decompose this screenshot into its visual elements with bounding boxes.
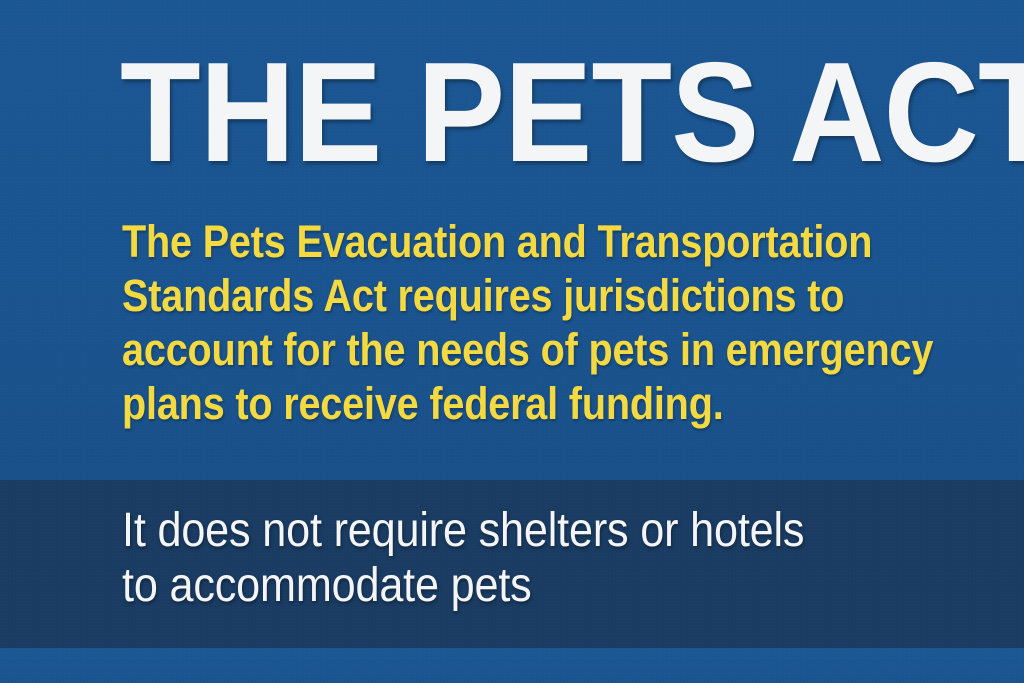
slide-content: THE PETS ACT The Pets Evacuation and Tra… (0, 0, 1024, 683)
infographic-slide: THE PETS ACT The Pets Evacuation and Tra… (0, 0, 1024, 683)
subtitle-line-4: plans to receive federal funding. (122, 377, 835, 431)
subtitle-line-3: account for the needs of pets in emergen… (122, 323, 835, 377)
slide-title: THE PETS ACT (120, 38, 1024, 188)
slide-note: It does not require shelters or hotels t… (122, 503, 977, 613)
note-line-1: It does not require shelters or hotels (122, 503, 977, 558)
subtitle-line-1: The Pets Evacuation and Transportation (122, 215, 835, 269)
subtitle-line-2: Standards Act requires jurisdictions to (122, 269, 835, 323)
note-line-2: to accommodate pets (122, 558, 977, 613)
slide-subtitle: The Pets Evacuation and Transportation S… (122, 215, 835, 431)
